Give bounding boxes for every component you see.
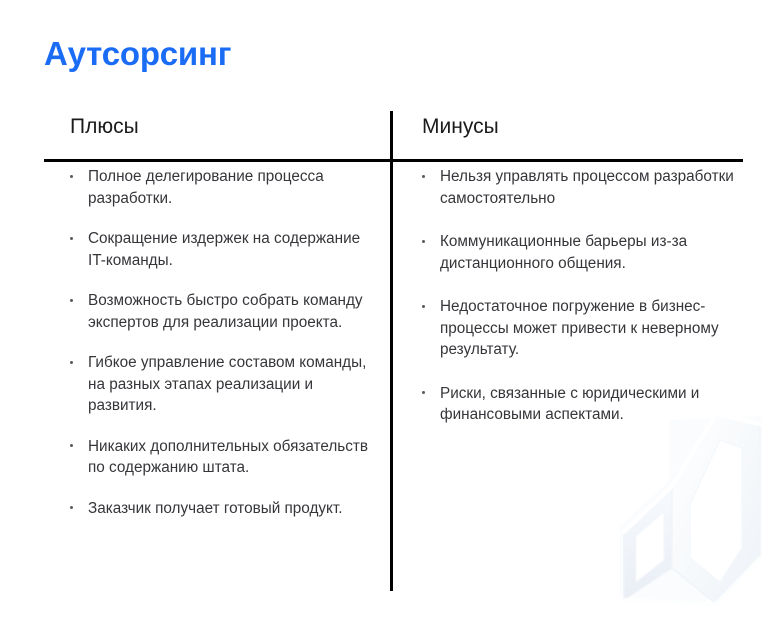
bullet-dot-icon <box>70 506 73 509</box>
bullet-dot-icon <box>70 237 73 240</box>
list-item: Гибкое управление составом команды, на р… <box>70 352 382 417</box>
list-item: Риски, связанные с юридическими и финанс… <box>422 383 742 426</box>
list-item: Сокращение издержек на содержание IT-ком… <box>70 228 382 271</box>
table-column-divider <box>390 111 393 591</box>
list-item: Недостаточное погружение в бизнес-процес… <box>422 296 742 361</box>
list-item: Коммуникационные барьеры из-за дистанцио… <box>422 231 742 274</box>
list-item: Полное делегирование процесса разработки… <box>70 166 382 209</box>
list-item-text: Риски, связанные с юридическими и финанс… <box>440 385 699 424</box>
list-item-text: Возможность быстро собрать команду экспе… <box>88 292 363 331</box>
bullet-dot-icon <box>422 175 425 178</box>
list-item-text: Нельзя управлять процессом разработки са… <box>440 168 734 207</box>
bullet-dot-icon <box>70 175 73 178</box>
list-item-text: Недостаточное погружение в бизнес-процес… <box>440 298 719 358</box>
list-item-text: Гибкое управление составом команды, на р… <box>88 354 366 414</box>
list-item-text: Сокращение издержек на содержание IT-ком… <box>88 230 360 269</box>
bullet-dot-icon <box>422 391 425 394</box>
list-item-text: Никаких дополнительных обязательств по с… <box>88 438 368 477</box>
column-pros: Плюсы Полное делегирование процесса разр… <box>70 114 382 519</box>
list-item-text: Полное делегирование процесса разработки… <box>88 168 324 207</box>
bullet-dot-icon <box>422 240 425 243</box>
bullet-dot-icon <box>70 299 73 302</box>
pros-list: Полное делегирование процесса разработки… <box>70 166 382 519</box>
slide-root: Аутсорсинг Плюсы Полное делегирование пр… <box>0 0 780 622</box>
column-heading-pros: Плюсы <box>70 114 382 140</box>
column-cons: Минусы Нельзя управлять процессом разраб… <box>422 114 742 448</box>
list-item: Нельзя управлять процессом разработки са… <box>422 166 742 209</box>
bullet-dot-icon <box>422 305 425 308</box>
list-item: Возможность быстро собрать команду экспе… <box>70 290 382 333</box>
cons-list: Нельзя управлять процессом разработки са… <box>422 166 742 426</box>
page-title: Аутсорсинг <box>44 34 231 74</box>
column-heading-cons: Минусы <box>422 114 742 140</box>
list-item: Никаких дополнительных обязательств по с… <box>70 436 382 479</box>
list-item-text: Коммуникационные барьеры из-за дистанцио… <box>440 233 687 272</box>
bullet-dot-icon <box>70 361 73 364</box>
list-item-text: Заказчик получает готовый продукт. <box>88 500 342 517</box>
bullet-dot-icon <box>70 444 73 447</box>
table-header-rule <box>44 159 743 162</box>
list-item: Заказчик получает готовый продукт. <box>70 498 382 520</box>
